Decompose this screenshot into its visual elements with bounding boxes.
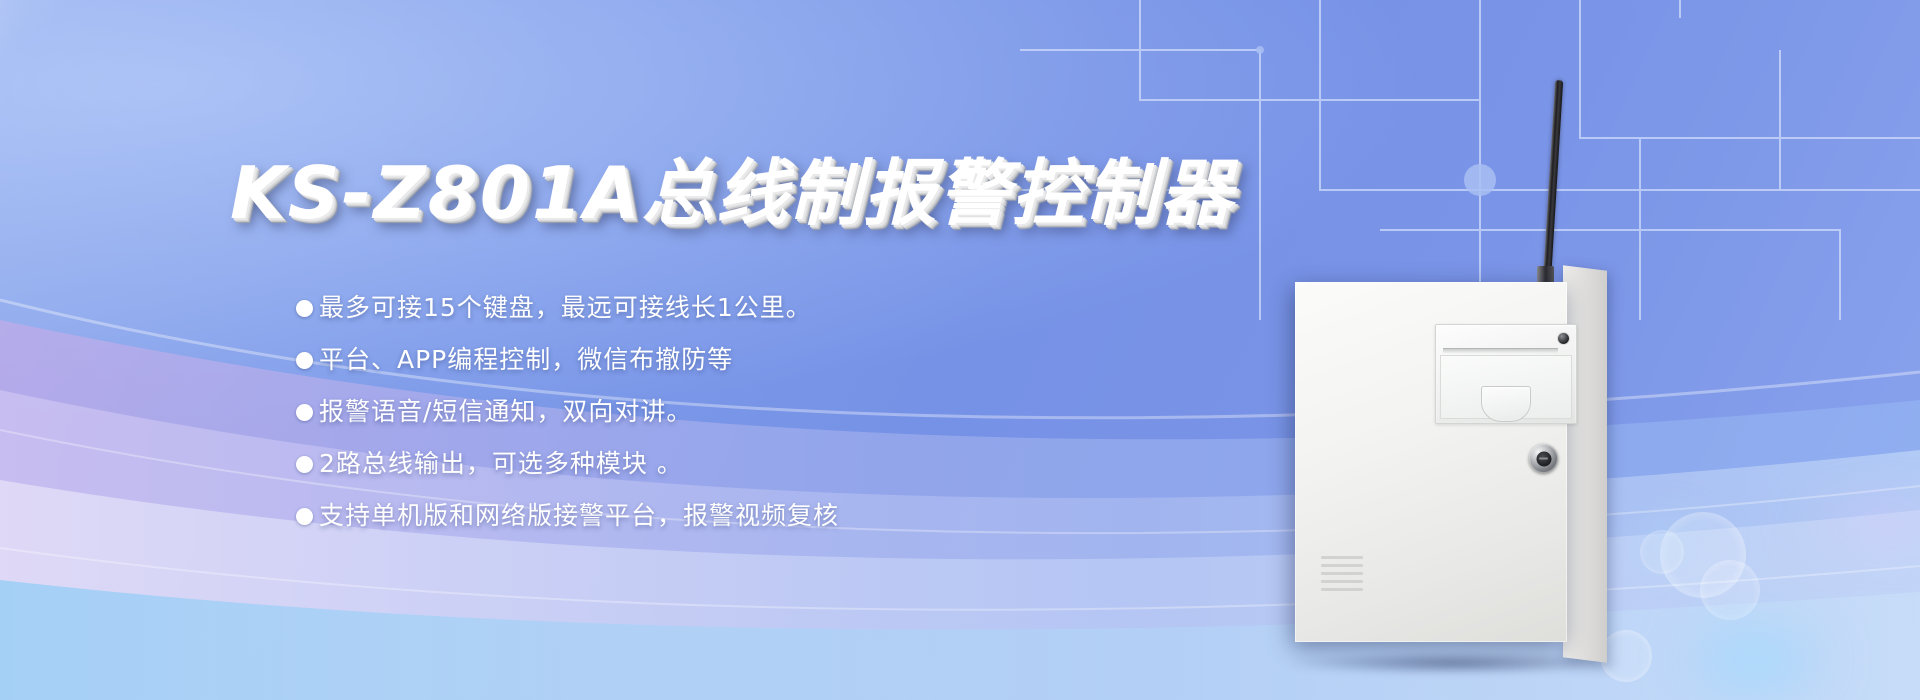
light-ray — [0, 0, 162, 700]
cabinet-front-door — [1295, 282, 1567, 642]
feature-text: 2路总线输出，可选多种模块 。 — [319, 438, 683, 490]
light-ray — [0, 0, 268, 582]
printer-indicator-led-icon — [1558, 333, 1569, 344]
ventilation-slots — [1321, 556, 1363, 596]
page-title: KS-Z801A总线制报警控制器 — [230, 134, 1234, 239]
keylock-core — [1536, 451, 1551, 466]
list-item: 报警语音/短信通知，双向对讲。 — [296, 386, 1116, 438]
vent-slot — [1321, 564, 1363, 567]
light-ray — [0, 0, 136, 700]
vent-slot — [1321, 588, 1363, 591]
vent-slot — [1321, 572, 1363, 575]
list-item: 平台、APP编程控制，微信布撤防等 — [296, 334, 1116, 386]
feature-text: 平台、APP编程控制，微信布撤防等 — [319, 334, 733, 386]
bokeh-circle — [1660, 512, 1746, 598]
filled-circle-bullet-icon — [296, 508, 313, 525]
light-flare — [1680, 620, 1830, 700]
light-ray — [0, 0, 93, 700]
printer-front-panel — [1440, 355, 1572, 419]
feature-text: 最多可接15个键盘，最远可接线长1公里。 — [319, 282, 812, 334]
list-item: 支持单机版和网络版接警平台，报警视频复核 — [296, 490, 1116, 542]
light-flare — [1790, 500, 1920, 546]
product-banner: KS-Z801A总线制报警控制器 最多可接15个键盘，最远可接线长1公里。 平台… — [0, 0, 1920, 700]
list-item: 2路总线输出，可选多种模块 。 — [296, 438, 1116, 490]
filled-circle-bullet-icon — [296, 352, 313, 369]
cabinet-keylock-icon — [1529, 444, 1558, 473]
light-ray — [0, 0, 309, 700]
vent-slot — [1321, 556, 1363, 559]
light-ray — [0, 0, 41, 700]
list-item: 最多可接15个键盘，最远可接线长1公里。 — [296, 282, 1116, 334]
feature-list: 最多可接15个键盘，最远可接线长1公里。 平台、APP编程控制，微信布撤防等 报… — [296, 282, 1116, 542]
filled-circle-bullet-icon — [296, 300, 313, 317]
feature-text: 支持单机版和网络版接警平台，报警视频复核 — [319, 490, 839, 542]
product-image-alarm-control-panel — [1245, 260, 1665, 690]
printer-paper-slot — [1443, 348, 1558, 353]
bokeh-circle — [1700, 560, 1760, 620]
feature-text: 报警语音/短信通知，双向对讲。 — [319, 386, 692, 438]
printer-module — [1435, 324, 1577, 424]
printer-paper-handle — [1481, 386, 1531, 422]
keyhole-slot — [1539, 458, 1548, 460]
filled-circle-bullet-icon — [296, 404, 313, 421]
filled-circle-bullet-icon — [296, 456, 313, 473]
antenna-icon — [1543, 80, 1563, 280]
vent-slot — [1321, 580, 1363, 583]
